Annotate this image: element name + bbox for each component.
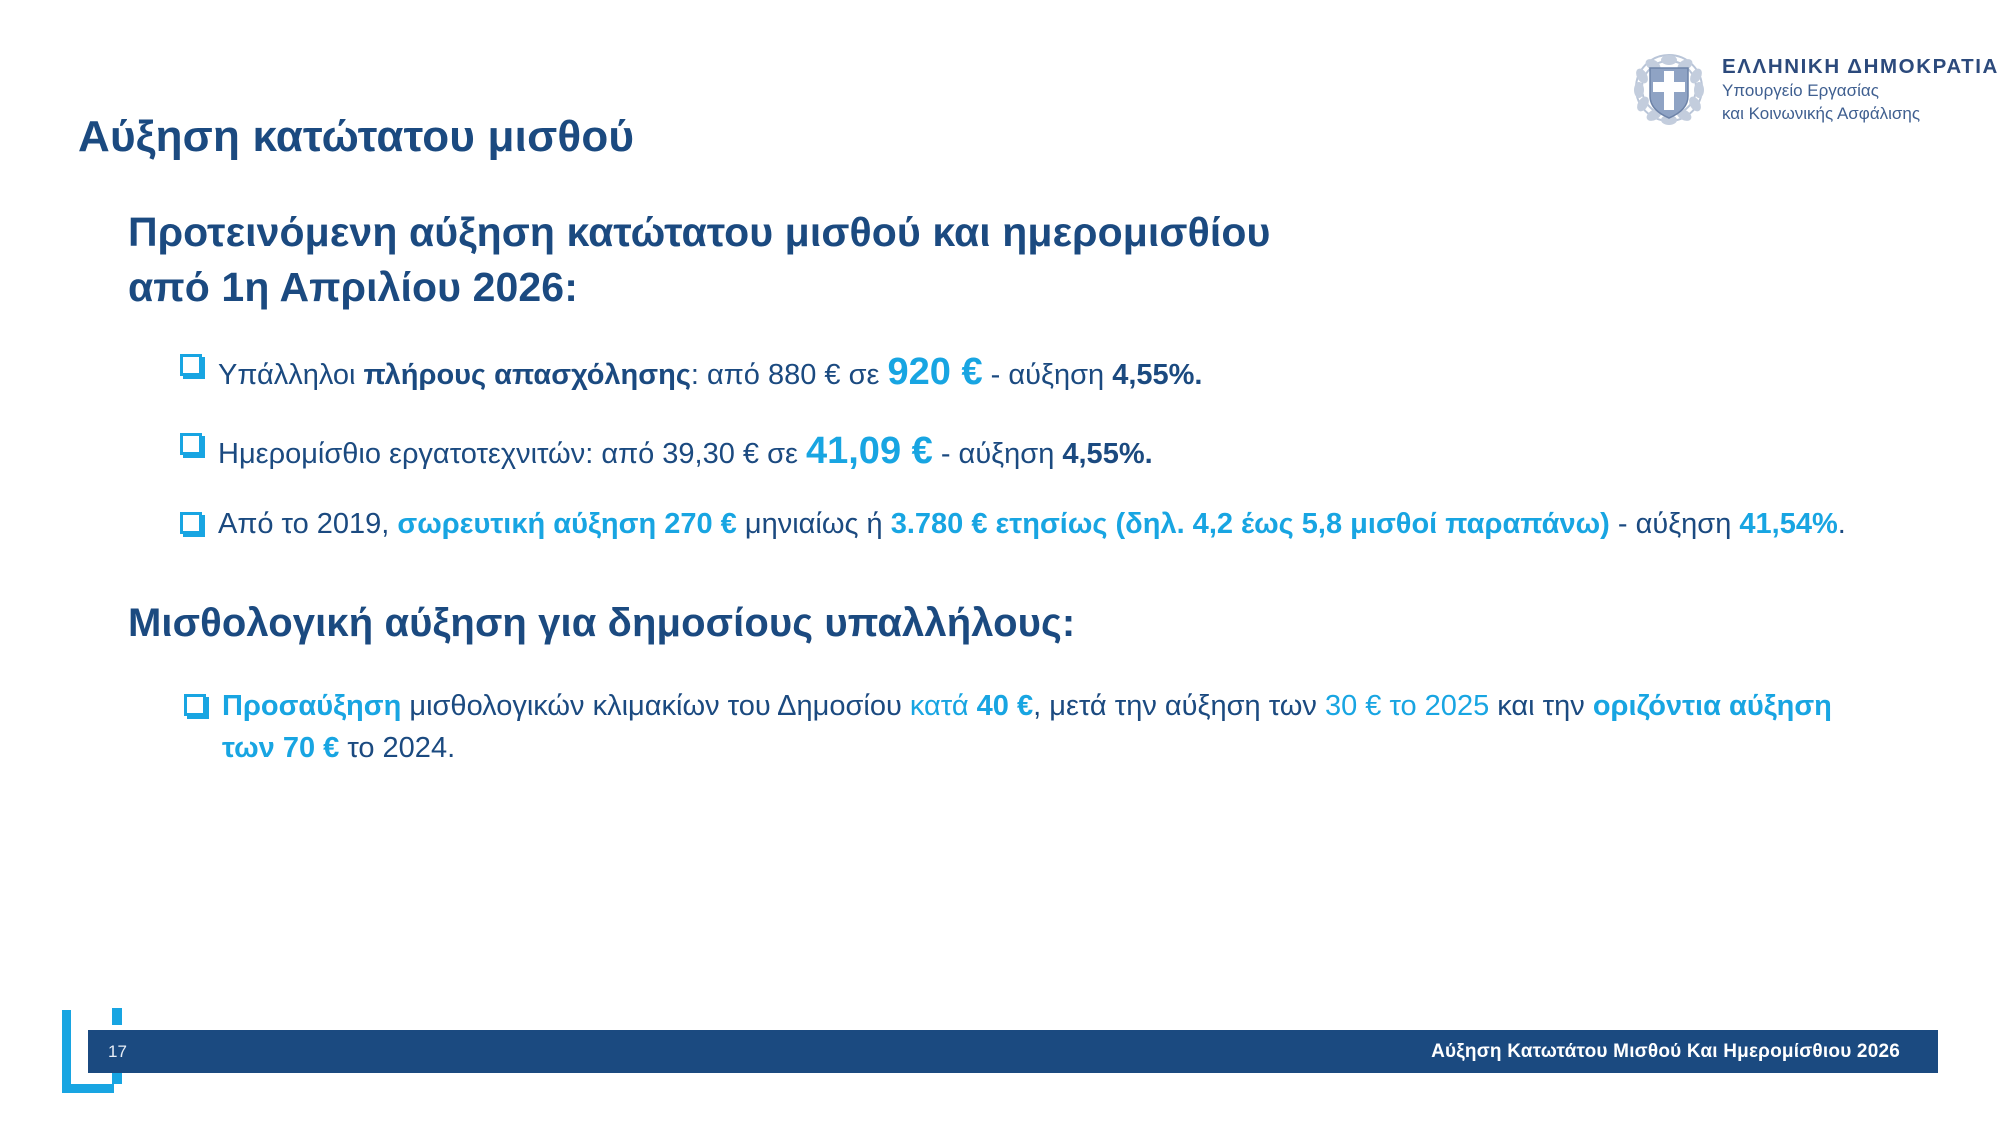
section-heading-line2: από 1η Απριλίου 2026: (128, 260, 1888, 315)
text-run: 40 € (977, 690, 1033, 722)
bullet-list: Προσαύξηση μισθολογικών κλιμακίων του Δη… (128, 685, 1888, 769)
logo-title: ΕΛΛΗΝΙΚΗ ΔΗΜΟΚΡΑΤΙΑ (1722, 54, 1999, 80)
text-run: κατά (910, 690, 977, 722)
text-run: , μετά την αύξηση των (1033, 690, 1325, 722)
footer-bar: 17 Αύξηση Κατωτάτου Μισθού Και Ημερομίσθ… (88, 1030, 1938, 1073)
bullet-square-icon (180, 433, 202, 455)
text-run: . (1838, 508, 1846, 540)
bullet-text: Προσαύξηση μισθολογικών κλιμακίων του Δη… (222, 685, 1888, 769)
slide-canvas: ΕΛΛΗΝΙΚΗ ΔΗΜΟΚΡΑΤΙΑ Υπουργείο Εργασίας κ… (0, 0, 2000, 1125)
list-item: Προσαύξηση μισθολογικών κλιμακίων του Δη… (184, 685, 1888, 769)
greek-coat-of-arms-icon (1630, 48, 1708, 132)
text-run: σωρευτική αύξηση 270 € (397, 508, 736, 540)
page-number: 17 (108, 1042, 127, 1062)
text-run: : από 880 € σε (691, 359, 888, 391)
text-run: Από το 2019, (218, 508, 397, 540)
text-run: 4,55%. (1112, 359, 1202, 391)
section-minimum-wage: Προτεινόμενη αύξηση κατώτατου μισθού και… (128, 205, 1888, 545)
section-heading-line1: Μισθολογική αύξηση για δημοσίους υπαλλήλ… (128, 597, 1888, 651)
text-run: το 2024. (339, 732, 455, 764)
bullet-text: Υπάλληλοι πλήρους απασχόλησης: από 880 €… (218, 345, 1888, 400)
logo-subtitle-line1: Υπουργείο Εργασίας (1722, 80, 1999, 103)
text-run: Υπάλληλοι (218, 359, 364, 391)
section-heading: Προτεινόμενη αύξηση κατώτατου μισθού και… (128, 205, 1888, 315)
text-run: - αύξηση (983, 359, 1113, 391)
section-heading-line1: Προτεινόμενη αύξηση κατώτατου μισθού και… (128, 205, 1888, 260)
section-public-sector: Μισθολογική αύξηση για δημοσίους υπαλλήλ… (128, 597, 1888, 769)
footer-title: Αύξηση Κατωτάτου Μισθού Και Ημερομίσθιου… (1431, 1041, 1900, 1063)
bullet-square-icon (180, 354, 202, 376)
text-run: και την (1489, 690, 1593, 722)
ministry-logo: ΕΛΛΗΝΙΚΗ ΔΗΜΟΚΡΑΤΙΑ Υπουργείο Εργασίας κ… (1630, 48, 1999, 132)
text-run: 30 € το 2025 (1325, 690, 1489, 722)
bullet-square-icon (184, 694, 206, 716)
slide-body: Προτεινόμενη αύξηση κατώτατου μισθού και… (128, 205, 1888, 769)
text-run: 920 € (888, 351, 983, 393)
bullet-square-icon (180, 512, 202, 534)
text-run: Προσαύξηση (222, 690, 401, 722)
logo-subtitle-line2: και Κοινωνικής Ασφάλισης (1722, 103, 1999, 126)
text-run: 3.780 € ετησίως (δηλ. 4,2 έως 5,8 μισθοί… (891, 508, 1610, 540)
corner-tip-top-decoration (112, 1008, 122, 1025)
list-item: Υπάλληλοι πλήρους απασχόλησης: από 880 €… (180, 345, 1888, 400)
text-run: - αύξηση (933, 438, 1063, 470)
text-run: πλήρους απασχόλησης (364, 359, 691, 391)
text-run: 4,55%. (1062, 438, 1152, 470)
text-run: 41,54% (1739, 508, 1837, 540)
text-run: 41,09 € (806, 430, 933, 472)
bullet-text: Ημερομίσθιο εργατοτεχνιτών: από 39,30 € … (218, 424, 1888, 479)
section-heading: Μισθολογική αύξηση για δημοσίους υπαλλήλ… (128, 597, 1888, 651)
bullet-text: Από το 2019, σωρευτική αύξηση 270 € μηνι… (218, 503, 1888, 545)
list-item: Ημερομίσθιο εργατοτεχνιτών: από 39,30 € … (180, 424, 1888, 479)
text-run: μισθολογικών κλιμακίων του Δημοσίου (401, 690, 910, 722)
text-run: - αύξηση (1610, 508, 1740, 540)
page-title: Αύξηση κατώτατου μισθού (78, 112, 634, 162)
list-item: Από το 2019, σωρευτική αύξηση 270 € μηνι… (180, 503, 1888, 545)
text-run: Ημερομίσθιο εργατοτεχνιτών: από 39,30 € … (218, 438, 806, 470)
bullet-list: Υπάλληλοι πλήρους απασχόλησης: από 880 €… (128, 345, 1888, 545)
text-run: μηνιαίως ή (737, 508, 891, 540)
